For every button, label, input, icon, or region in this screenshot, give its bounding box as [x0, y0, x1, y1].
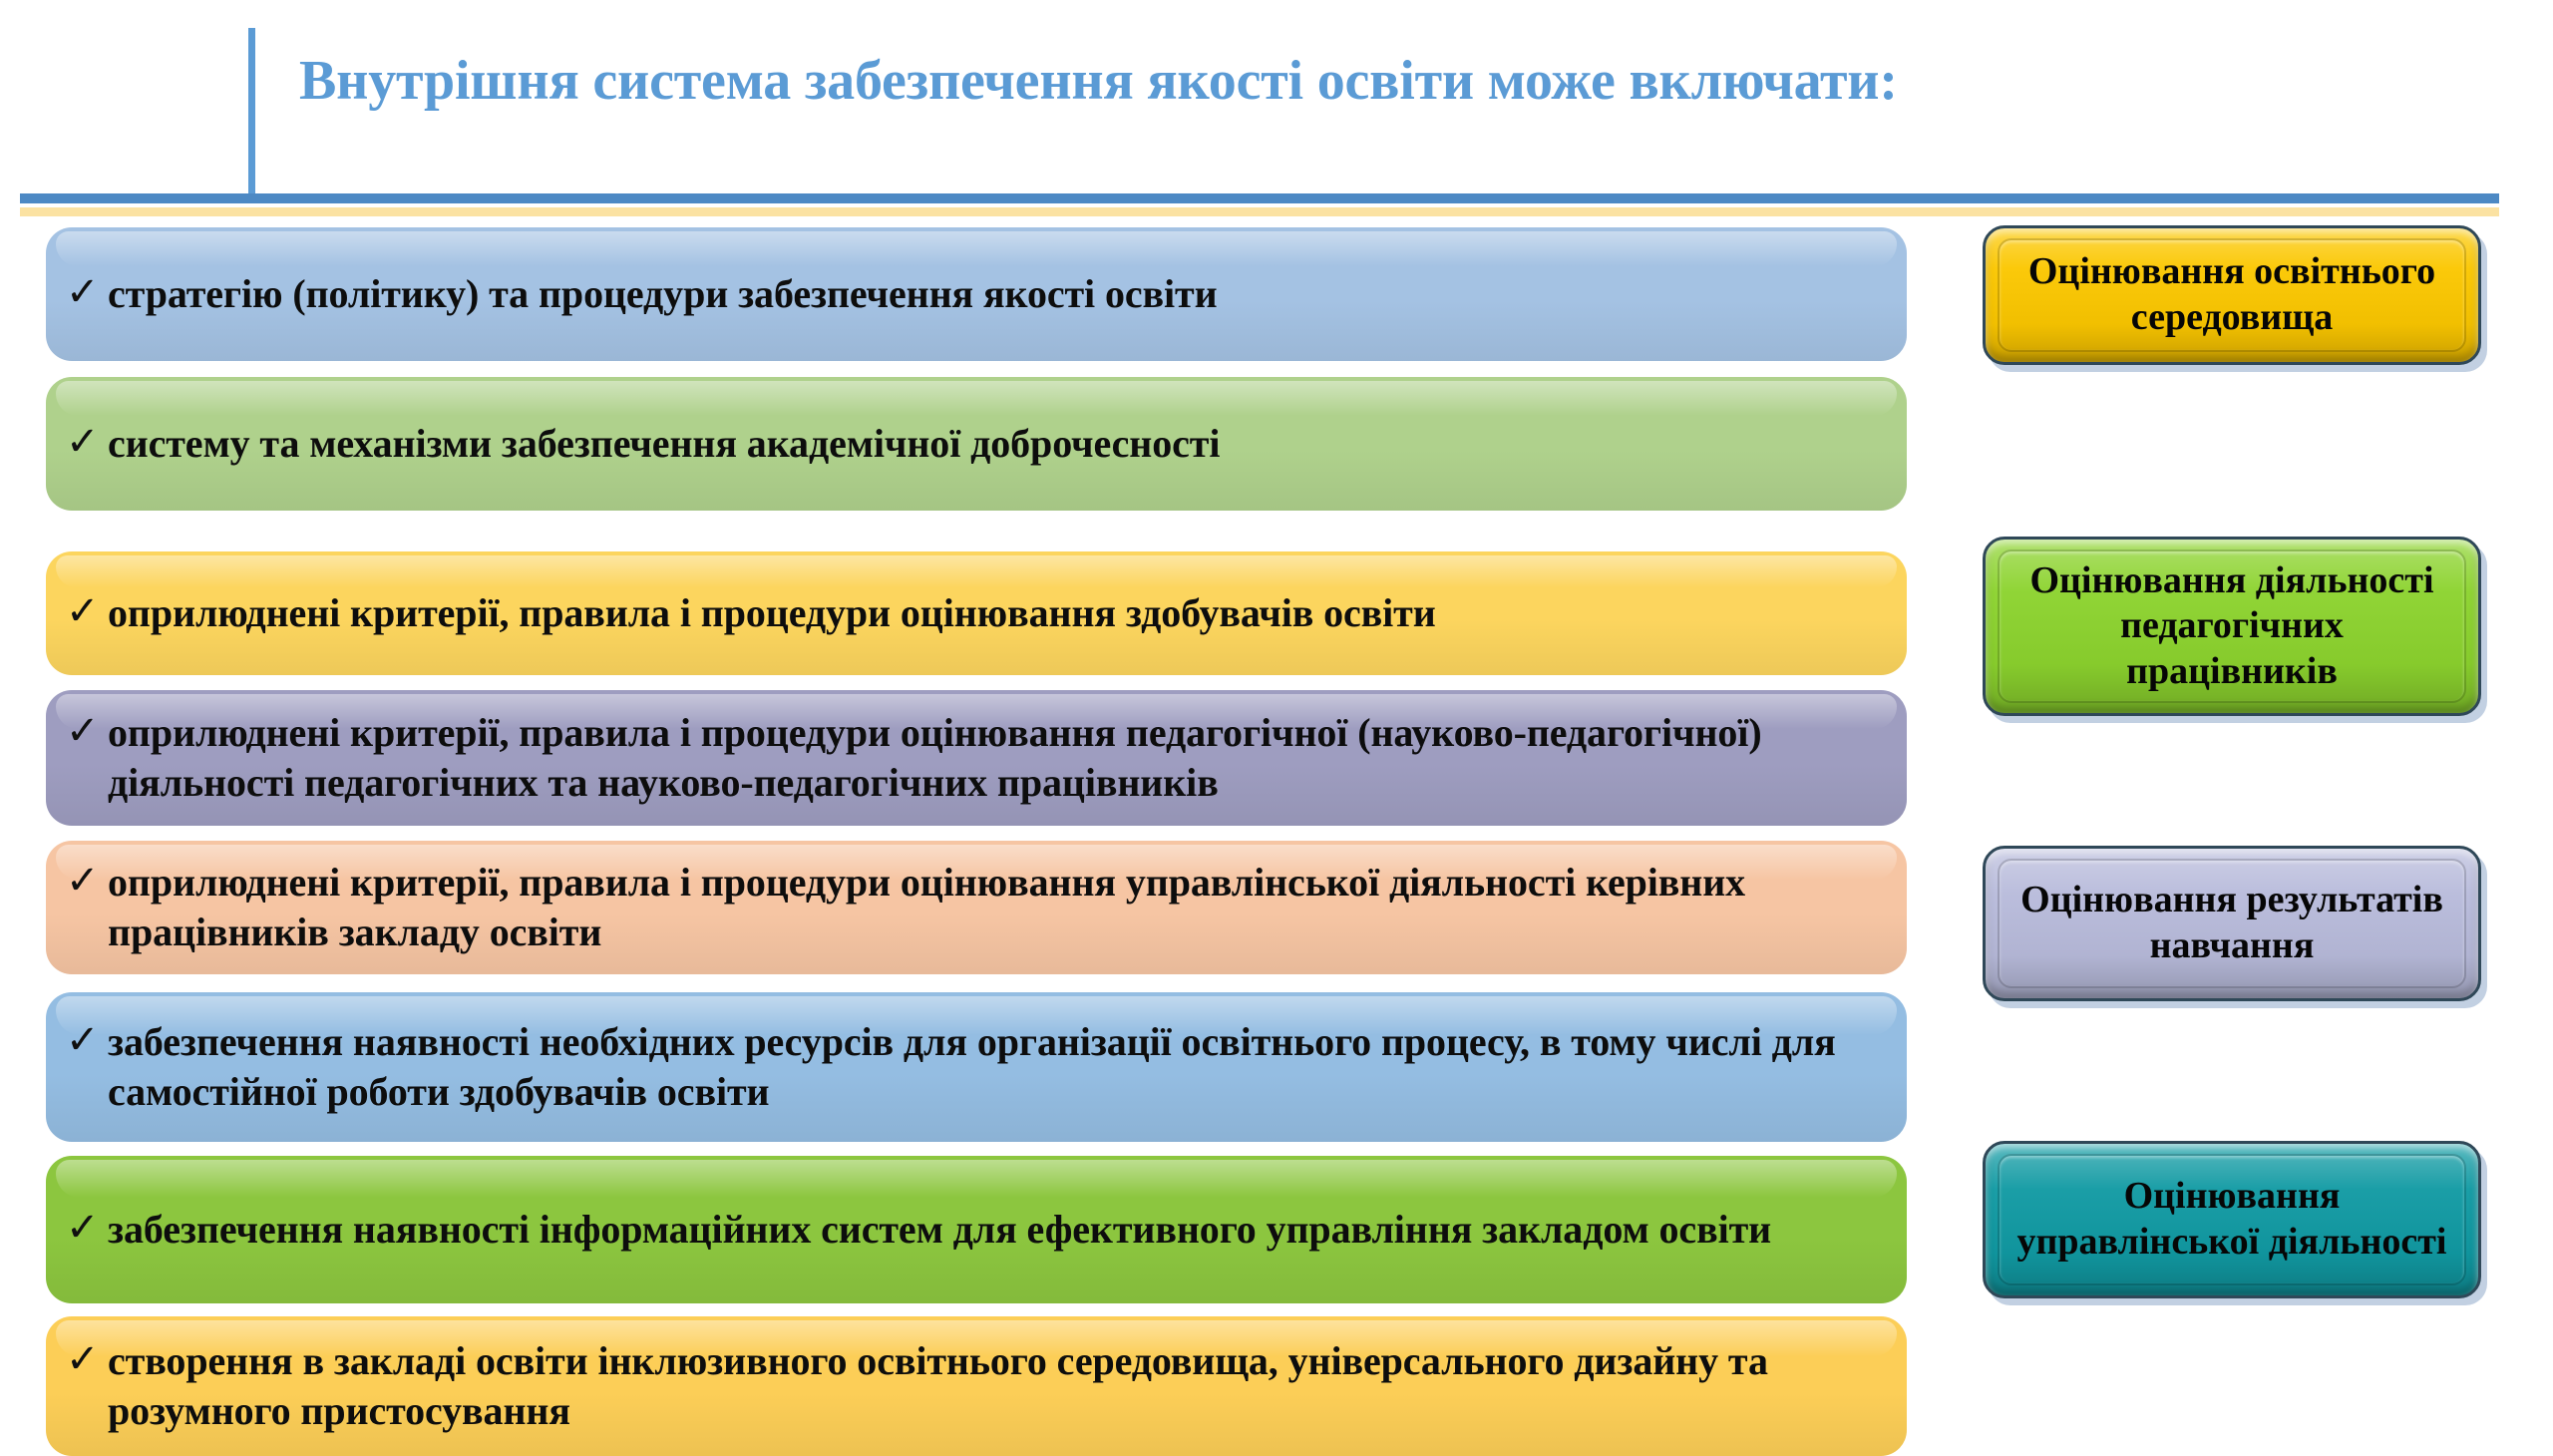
title-vertical-rule [248, 28, 255, 199]
category-box: Оцінювання діяльності педагогічних праці… [1983, 537, 2481, 716]
category-label: Оцінювання результатів навчання [1986, 878, 2478, 968]
bullet-bar: ✓створення в закладі освіти інклюзивного… [46, 1316, 1907, 1456]
bullet-text: створення в закладі освіти інклюзивного … [108, 1336, 1881, 1436]
bullet-text: оприлюднені критерії, правила і процедур… [108, 858, 1881, 957]
bullet-text: забезпечення наявності інформаційних сис… [108, 1205, 1881, 1255]
bullet-text: систему та механізми забезпечення академ… [108, 419, 1881, 469]
category-list: Оцінювання освітнього середовищаОцінюван… [1983, 225, 2491, 1436]
bullet-text: забезпечення наявності необхідних ресурс… [108, 1017, 1881, 1117]
page-title: Внутрішня система забезпечення якості ос… [299, 52, 2473, 111]
category-label: Оцінювання освітнього середовища [1986, 249, 2478, 340]
bullet-bar: ✓оприлюднені критерії, правила і процеду… [46, 551, 1907, 675]
category-label: Оцінювання діяльності педагогічних праці… [1986, 558, 2478, 695]
bullet-list: ✓стратегію (політику) та процедури забез… [46, 225, 1907, 1436]
check-icon: ✓ [46, 1205, 108, 1252]
check-icon: ✓ [46, 1017, 108, 1064]
header-divider-blue [20, 193, 2499, 203]
bullet-text: стратегію (політику) та процедури забезп… [108, 269, 1881, 319]
category-box: Оцінювання управлінської діяльності [1983, 1141, 2481, 1298]
category-label: Оцінювання управлінської діяльності [1986, 1174, 2478, 1265]
check-icon: ✓ [46, 708, 108, 755]
bullet-text: оприлюднені критерії, правила і процедур… [108, 708, 1881, 808]
slide-header: Внутрішня система забезпечення якості ос… [0, 0, 2553, 221]
bullet-bar: ✓оприлюднені критерії, правила і процеду… [46, 690, 1907, 826]
bullet-bar: ✓оприлюднені критерії, правила і процеду… [46, 841, 1907, 974]
check-icon: ✓ [46, 1336, 108, 1383]
bullet-bar: ✓забезпечення наявності інформаційних си… [46, 1156, 1907, 1303]
check-icon: ✓ [46, 269, 108, 316]
category-box: Оцінювання освітнього середовища [1983, 225, 2481, 365]
bullet-text: оприлюднені критерії, правила і процедур… [108, 588, 1881, 638]
check-icon: ✓ [46, 419, 108, 466]
check-icon: ✓ [46, 858, 108, 905]
bullet-bar: ✓забезпечення наявності необхідних ресур… [46, 992, 1907, 1142]
bullet-bar: ✓систему та механізми забезпечення акаде… [46, 377, 1907, 511]
bullet-bar: ✓стратегію (політику) та процедури забез… [46, 227, 1907, 361]
check-icon: ✓ [46, 588, 108, 635]
category-box: Оцінювання результатів навчання [1983, 846, 2481, 1001]
header-divider-yellow [20, 207, 2499, 216]
